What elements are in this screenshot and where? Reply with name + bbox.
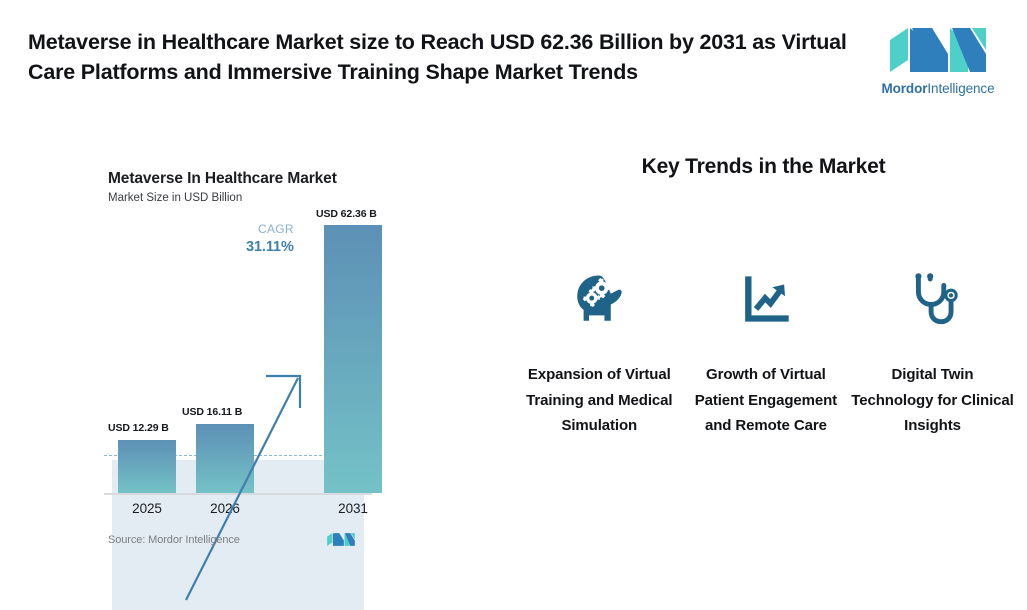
cagr-value: 31.11% (246, 239, 294, 255)
logo-suffix: Intelligence (927, 81, 994, 96)
key-trends-title: Key Trends in the Market (500, 155, 1027, 179)
mordor-m-logo-footer-icon (326, 531, 356, 548)
growth-arrow-icon (180, 368, 310, 604)
chart-source: Source: Mordor Intelligence (108, 534, 240, 546)
stethoscope-icon (903, 270, 961, 328)
bar-value-label-2025: USD 12.29 B (108, 422, 169, 434)
bar-fill (118, 440, 176, 493)
bar-fill (324, 225, 382, 493)
trend-card-digital-twin: Digital Twin Technology for Clinical Ins… (849, 270, 1016, 439)
chart-plot-area: USD 12.29 B USD 16.11 B USD 62.36 B 2025… (0, 150, 470, 570)
trend-card-virtual-training: Expansion of Virtual Training and Medica… (516, 270, 683, 439)
logo-name: Mordor (881, 81, 927, 96)
cagr-label: CAGR (258, 222, 294, 236)
infographic-page: Metaverse in Healthcare Market size to R… (0, 0, 1027, 583)
head-gears-icon (570, 270, 628, 328)
key-trends-panel: Key Trends in the Market (500, 150, 1027, 570)
mordor-intelligence-logo: MordorIntelligence (876, 24, 1000, 106)
bar-2031 (324, 225, 382, 493)
key-trends-list: Expansion of Virtual Training and Medica… (516, 270, 1016, 439)
trend-label: Expansion of Virtual Training and Medica… (516, 362, 683, 439)
page-title: Metaverse in Healthcare Market size to R… (28, 27, 848, 87)
mordor-wordmark: MordorIntelligence (876, 81, 1000, 96)
trend-label: Growth of Virtual Patient Engagement and… (683, 362, 850, 439)
mordor-m-logo-icon (886, 24, 990, 76)
x-tick-2031: 2031 (324, 501, 382, 516)
trend-label: Digital Twin Technology for Clinical Ins… (849, 362, 1016, 439)
trend-card-patient-engagement: Growth of Virtual Patient Engagement and… (683, 270, 850, 439)
bar-value-label-2031: USD 62.36 B (316, 208, 377, 220)
x-tick-2025: 2025 (118, 501, 176, 516)
bar-2025 (118, 440, 176, 493)
growth-chart-icon (737, 270, 795, 328)
market-size-chart: Metaverse In Healthcare Market Market Si… (0, 150, 470, 570)
